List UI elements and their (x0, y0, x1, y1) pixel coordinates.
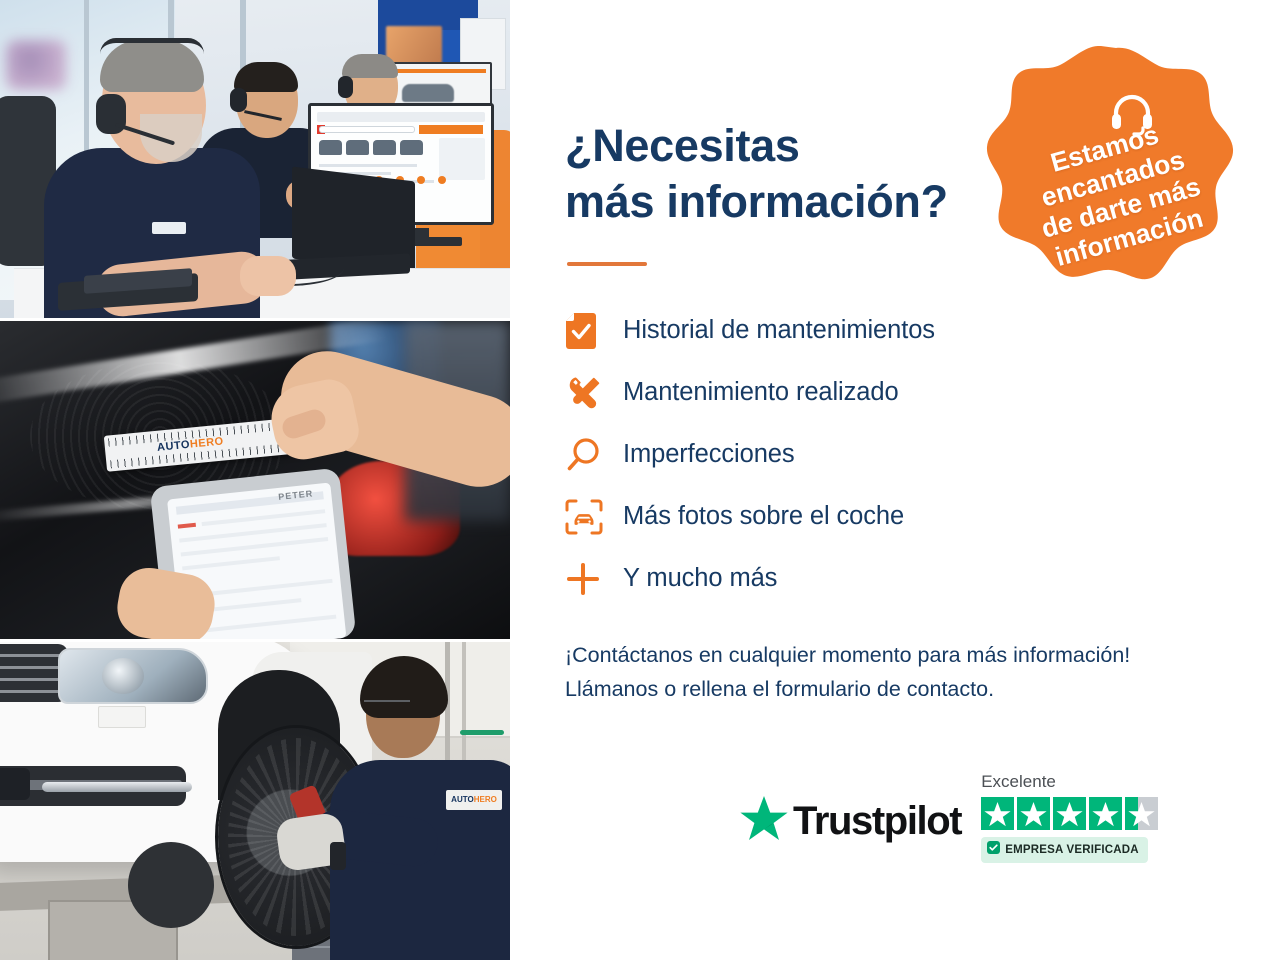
tools-icon (565, 374, 623, 412)
trustpilot-star-icon (740, 796, 788, 847)
rating-star (1053, 797, 1086, 830)
mechanic-wheel-workshop-photo: AUTOHERO (0, 642, 510, 960)
chrome-trim (42, 782, 192, 792)
feature-label: Mantenimiento realizado (623, 378, 899, 407)
licence-plate-holder (98, 706, 146, 728)
check-badge-icon (987, 841, 1000, 859)
trustpilot-block[interactable]: Trustpilot Excelente (740, 772, 1158, 863)
uniform-brand-auto: AUTO (451, 795, 474, 804)
magnifier-icon (565, 437, 623, 473)
vehicle-inspection-ruler-photo: AUTOHERO PETER (0, 321, 510, 639)
contact-line-2: Llámanos o rellena el formulario de cont… (565, 677, 994, 701)
feature-item-imperfecciones: Imperfecciones (565, 424, 1280, 486)
feature-item-mantenimiento: Mantenimiento realizado (565, 362, 1280, 424)
autohero-logo-uniform: AUTOHERO (446, 790, 502, 810)
car-headlight (58, 648, 208, 704)
feature-list: Historial de mantenimientos Mantenimient… (565, 300, 1280, 610)
mechanic: AUTOHERO (322, 656, 510, 960)
feature-label: Imperfecciones (623, 440, 795, 469)
feature-label: Y mucho más (623, 564, 777, 593)
ruler-brand-hero: HERO (189, 435, 224, 450)
trustpilot-rating: Excelente (981, 772, 1158, 863)
feature-label: Más fotos sobre el coche (623, 502, 904, 531)
document-check-icon (565, 312, 623, 350)
trustpilot-logo[interactable]: Trustpilot (740, 796, 961, 863)
contact-text: ¡Contáctanos en cualquier momento para m… (565, 638, 1280, 708)
headline-line-1: ¿Necesitas (565, 120, 800, 171)
badge-text: Estamos encantados de darte más informac… (982, 46, 1250, 330)
brake-disc (128, 842, 214, 928)
car-frame-icon (565, 499, 623, 535)
verified-label: EMPRESA VERIFICADA (1005, 844, 1139, 856)
status-badge: EMPRESA VERIFICADA (981, 837, 1148, 863)
title-divider (567, 262, 647, 266)
support-badge: Estamos encantados de darte más informac… (982, 46, 1250, 330)
feature-item-mas: Y mucho más (565, 548, 1280, 610)
rating-label: Excelente (981, 772, 1056, 792)
trustpilot-wordmark: Trustpilot (793, 799, 961, 844)
photo-column: AUTOHERO PETER (0, 0, 510, 960)
rating-star-partial (1125, 797, 1158, 830)
fog-light (0, 768, 30, 800)
promo-banner: AUTOHERO PETER (0, 0, 1280, 960)
contact-line-1: ¡Contáctanos en cualquier momento para m… (565, 643, 1130, 667)
rating-star (1089, 797, 1122, 830)
feature-item-fotos: Más fotos sobre el coche (565, 486, 1280, 548)
rating-star (981, 797, 1014, 830)
call-center-agents-photo (0, 0, 510, 318)
ruler-brand-auto: AUTO (157, 439, 191, 454)
rating-stars (981, 797, 1158, 830)
rating-star (1017, 797, 1050, 830)
plus-icon (565, 561, 623, 597)
uniform-brand-hero: HERO (474, 795, 497, 804)
headline-line-2: más información? (565, 176, 948, 227)
feature-label: Historial de mantenimientos (623, 316, 935, 345)
